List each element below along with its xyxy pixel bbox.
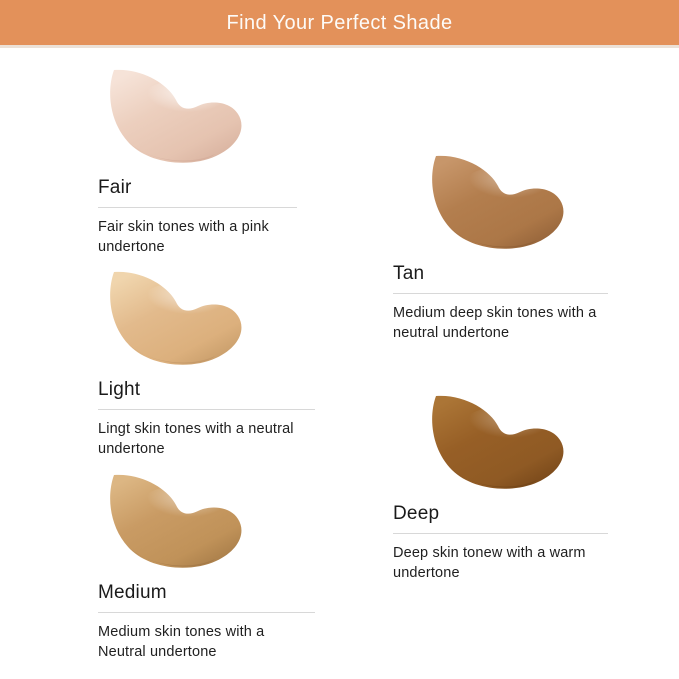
shade-finder-page: Find Your Perfect Shade [0, 0, 679, 679]
shade-card-fair[interactable]: Fair Fair skin tones with a pink underto… [98, 62, 297, 258]
shade-divider-medium [98, 612, 315, 613]
swatch-fair [98, 62, 258, 174]
header-banner: Find Your Perfect Shade [0, 0, 679, 45]
shade-name-fair: Fair [98, 178, 297, 199]
swatch-light [98, 264, 258, 376]
shade-divider-fair [98, 207, 297, 208]
swatch-medium [98, 467, 258, 579]
foundation-smear-icon [98, 467, 258, 579]
shade-name-tan: Tan [393, 264, 608, 285]
shade-name-medium: Medium [98, 583, 315, 604]
shade-description-light: Lingt skin tones with a neutral underton… [98, 419, 315, 460]
shade-description-fair: Fair skin tones with a pink undertone [98, 217, 297, 258]
shade-divider-deep [393, 533, 608, 534]
shade-name-deep: Deep [393, 504, 608, 525]
swatch-deep [420, 388, 580, 500]
shade-divider-light [98, 409, 315, 410]
shade-divider-tan [393, 293, 608, 294]
shade-name-light: Light [98, 380, 315, 401]
shade-card-tan[interactable]: Tan Medium deep skin tones with a neutra… [393, 148, 608, 344]
header-underline [0, 45, 679, 48]
foundation-smear-icon [420, 148, 580, 260]
shade-description-deep: Deep skin tonew with a warm undertone [393, 543, 608, 584]
foundation-smear-icon [420, 388, 580, 500]
shade-card-medium[interactable]: Medium Medium skin tones with a Neutral … [98, 467, 315, 663]
swatch-tan [420, 148, 580, 260]
foundation-smear-icon [98, 62, 258, 174]
page-title: Find Your Perfect Shade [226, 13, 452, 33]
shade-card-deep[interactable]: Deep Deep skin tonew with a warm underto… [393, 388, 608, 584]
foundation-smear-icon [98, 264, 258, 376]
shade-description-medium: Medium skin tones with a Neutral underto… [98, 622, 315, 663]
shade-card-light[interactable]: Light Lingt skin tones with a neutral un… [98, 264, 315, 460]
shade-description-tan: Medium deep skin tones with a neutral un… [393, 303, 608, 344]
